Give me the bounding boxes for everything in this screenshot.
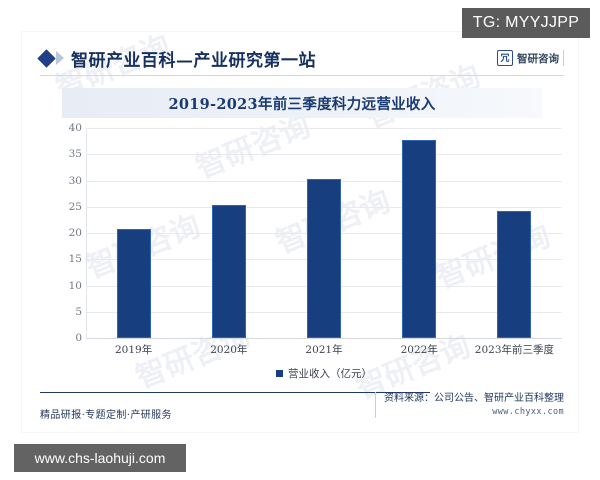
footer-tagline: 精品研报·专题定制·产研服务 (40, 406, 172, 421)
bar-chart: 4035302520151050 2019年2020年2021年2022年202… (40, 128, 562, 378)
brand-marks (40, 51, 64, 65)
chart-legend: 营业收入（亿元） (86, 366, 562, 381)
y-axis-tick-label: 5 (75, 306, 82, 318)
bar-slot (372, 128, 467, 338)
screenshot-root: 智研咨询 智研咨询 智研咨询 智研咨询 智研咨询 智研咨询 智研咨询 智研咨询 … (0, 0, 600, 480)
bar-series (86, 128, 562, 338)
y-axis-tick-label: 30 (69, 175, 82, 187)
chart-title-band: 2019-2023年前三季度科力远营业收入 (62, 88, 542, 118)
bar[interactable] (117, 229, 151, 338)
x-axis: 2019年2020年2021年2022年2023年前三季度 (86, 342, 562, 357)
y-axis-tick-label: 20 (69, 227, 82, 239)
footer-url: www.chyxx.com (384, 406, 564, 418)
legend-label: 营业收入（亿元） (288, 366, 372, 381)
tg-watermark-badge: TG: MYYJJPP (462, 8, 590, 38)
bar[interactable] (307, 179, 341, 338)
chevron-right-icon (56, 51, 64, 65)
y-axis-tick-label: 10 (69, 280, 82, 292)
header-divider (40, 75, 564, 76)
card-header: 智研产业百科—产业研究第一站 冗 智研咨询 (40, 42, 564, 74)
card-footer: 精品研报·专题定制·产研服务 资料来源：公司公告、智研产业百科整理 www.ch… (40, 392, 564, 426)
bar-slot (276, 128, 371, 338)
brand-logo-label: 智研咨询 (517, 51, 559, 66)
report-card: 智研咨询 智研咨询 智研咨询 智研咨询 智研咨询 智研咨询 智研咨询 智研咨询 … (22, 32, 578, 432)
brand-logo[interactable]: 冗 智研咨询 (497, 50, 564, 66)
bar[interactable] (497, 211, 531, 338)
brand-logo-icon: 冗 (497, 50, 513, 66)
y-axis-tick-label: 0 (75, 332, 82, 344)
x-axis-tick-label: 2023年前三季度 (467, 342, 562, 357)
chart-title: 2019-2023年前三季度科力远营业收入 (168, 93, 435, 114)
y-axis-tick-label: 25 (69, 201, 82, 213)
x-axis-tick-label: 2020年 (181, 342, 276, 357)
bar[interactable] (402, 140, 436, 338)
y-axis-tick-label: 15 (69, 253, 82, 265)
x-axis-tick-label: 2022年 (372, 342, 467, 357)
bar-slot (467, 128, 562, 338)
x-axis-line (86, 338, 562, 339)
y-axis-tick-label: 35 (69, 148, 82, 160)
x-axis-tick-label: 2019年 (86, 342, 181, 357)
bar[interactable] (212, 205, 246, 338)
y-axis-tick-label: 40 (69, 122, 82, 134)
site-watermark-badge: www.chs-laohuji.com (14, 444, 186, 472)
footer-divider (40, 392, 430, 393)
bar-slot (86, 128, 181, 338)
legend-swatch (276, 370, 283, 377)
bar-slot (181, 128, 276, 338)
page-title: 智研产业百科—产业研究第一站 (71, 46, 316, 71)
footer-source-block: 资料来源：公司公告、智研产业百科整理 www.chyxx.com (375, 392, 564, 418)
y-axis: 4035302520151050 (40, 128, 86, 338)
footer-source: 资料来源：公司公告、智研产业百科整理 (384, 392, 564, 406)
x-axis-tick-label: 2021年 (276, 342, 371, 357)
diamond-icon (37, 49, 55, 67)
